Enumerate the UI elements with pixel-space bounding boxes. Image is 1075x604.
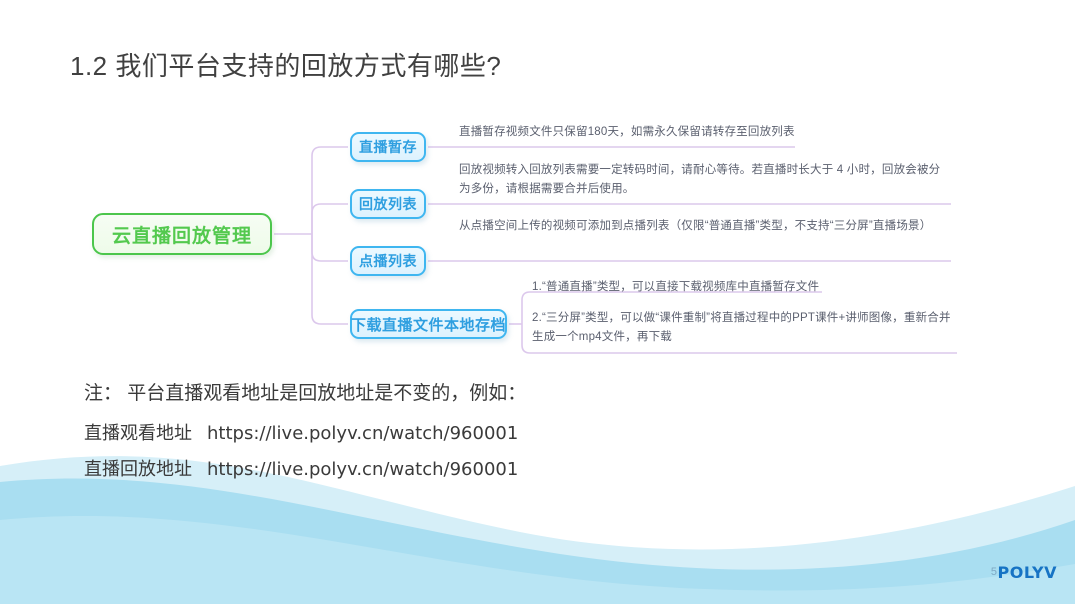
mindmap-branch-label: 直播暂存 [359,137,417,157]
wave-layer-mid [0,516,1075,604]
mindmap-branch-node-live-cache[interactable]: 直播暂存 [350,132,426,162]
note-heading: 注： 平台直播观看地址是回放地址是不变的，例如： [84,378,526,405]
page-number: 5 [991,566,997,578]
mindmap-branch-label: 点播列表 [359,251,417,271]
mindmap-description-playback-list: 回放视频转入回放列表需要一定转码时间，请耐心等待。若直播时长大于 4 小时，回放… [459,161,951,199]
mindmap-branch-node-download-archive[interactable]: 下载直播文件本地存档 [350,309,507,339]
connector-bus-b3 [312,234,348,261]
url-label-playback: 直播回放地址 [84,459,192,479]
mindmap-description-live-cache: 直播暂存视频文件只保留180天，如需永久保留请转存至回放列表 [459,123,959,142]
brand-logo: POLYV [998,563,1058,582]
mindmap-branch-node-playback-list[interactable]: 回放列表 [350,189,426,219]
mindmap-subitem-normal-live: 1.“普通直播”类型，可以直接下载视频库中直播暂存文件 [532,278,952,297]
mindmap-root-node[interactable]: 云直播回放管理 [92,213,272,255]
mindmap-branch-label: 下载直播文件本地存档 [351,314,506,335]
connector-bus-b4 [312,234,348,324]
mindmap-diagram: 云直播回放管理 直播暂存 回放列表 点播列表 下载直播文件本地存档 直播暂存视频… [0,0,1075,380]
wave-layer-front [0,479,1075,604]
connector-sub-bus-1 [522,292,532,324]
url-value-watch[interactable]: https://live.polyv.cn/watch/960001 [207,423,518,444]
mindmap-branch-label: 回放列表 [359,194,417,214]
connector-bus-b1 [312,147,348,234]
url-label-watch: 直播观看地址 [84,423,192,443]
connector-sub-bus-2 [522,324,532,353]
url-row-watch: 直播观看地址 https://live.polyv.cn/watch/96000… [84,419,526,445]
mindmap-root-label: 云直播回放管理 [112,221,252,248]
connector-bus-b2 [312,204,348,234]
mindmap-branch-node-vod-list[interactable]: 点播列表 [350,246,426,276]
mindmap-subitem-three-split-screen: 2.“三分屏”类型，可以做“课件重制”将直播过程中的PPT课件+讲师图像，重新合… [532,309,957,347]
url-value-playback[interactable]: https://live.polyv.cn/watch/960001 [207,459,518,480]
mindmap-description-vod-list: 从点播空间上传的视频可添加到点播列表（仅限“普通直播”类型，不支持“三分屏”直播… [459,217,951,236]
url-row-playback: 直播回放地址 https://live.polyv.cn/watch/96000… [84,455,526,481]
note-block: 注： 平台直播观看地址是回放地址是不变的，例如： 直播观看地址 https://… [84,378,526,491]
